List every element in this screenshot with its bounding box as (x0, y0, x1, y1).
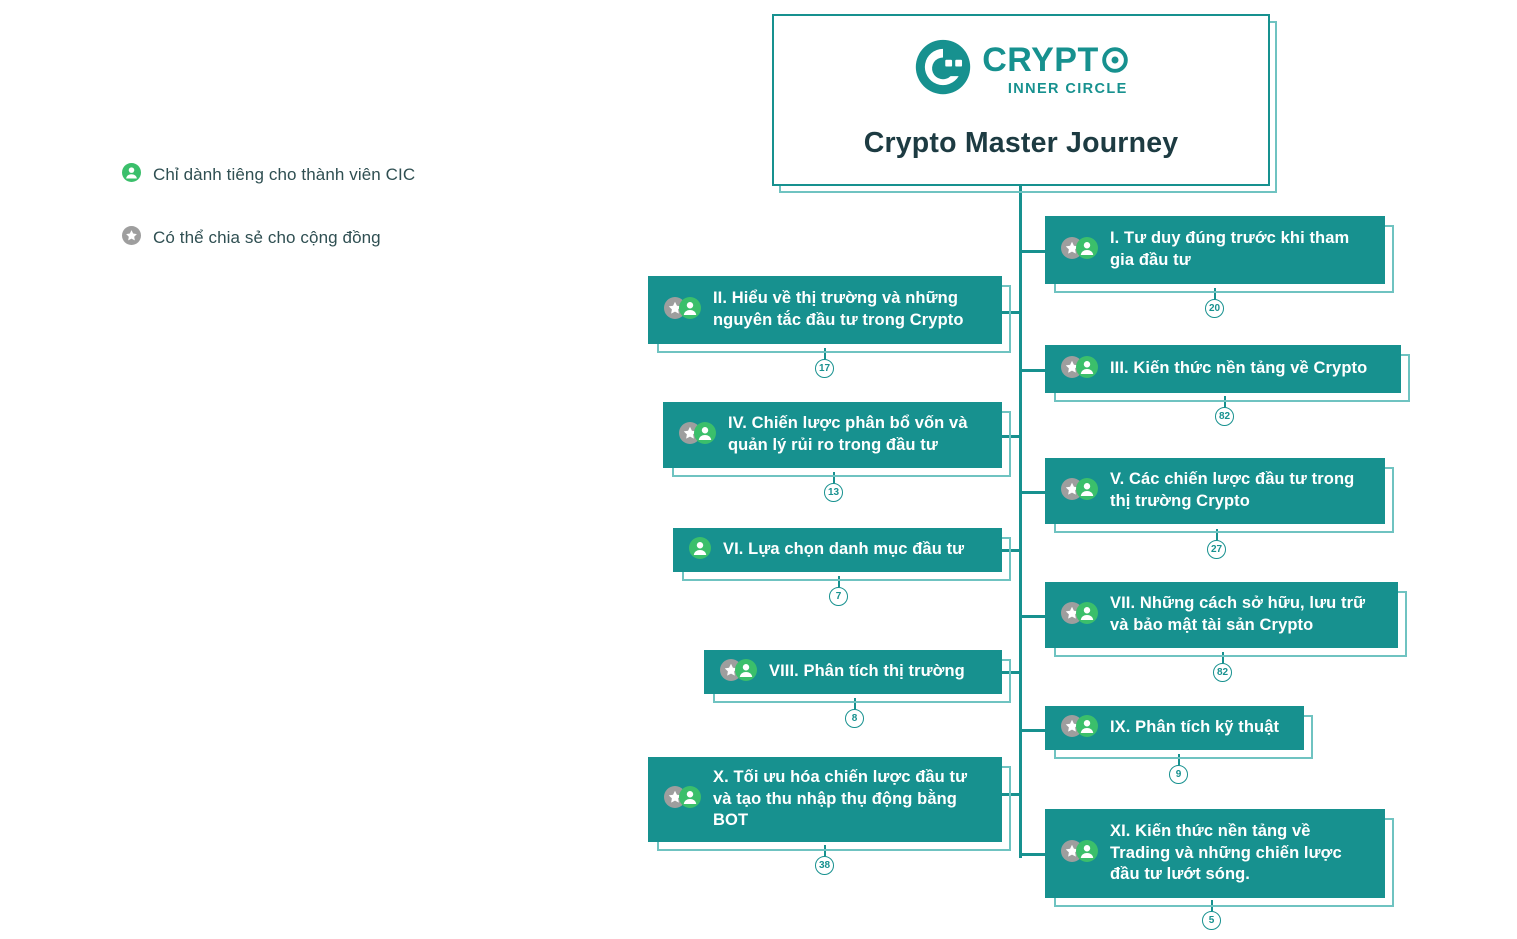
module-label: X. Tối ưu hóa chiến lược đầu tư và tạo t… (713, 767, 988, 832)
module-count-5: 27 (1207, 529, 1226, 559)
module-label: VII. Những cách sở hữu, lưu trữ và bảo m… (1110, 593, 1384, 637)
person-icon (1076, 840, 1098, 867)
count-badge: 20 (1205, 299, 1224, 318)
legend: Chỉ dành tiêng cho thành viên CIC Có thể… (122, 160, 415, 286)
module-label: III. Kiến thức nền tảng về Crypto (1110, 358, 1367, 380)
count-badge: 82 (1215, 407, 1234, 426)
module-icons (664, 297, 701, 324)
module-icons (689, 537, 711, 564)
module-label: VI. Lựa chọn danh mục đầu tư (723, 539, 964, 561)
person-icon (694, 422, 716, 449)
module-icons (1061, 478, 1098, 505)
branch-line-7 (1019, 615, 1045, 618)
count-badge: 8 (845, 709, 864, 728)
page-title: Crypto Master Journey (774, 127, 1268, 160)
module-icons (1061, 840, 1098, 867)
module-card-11[interactable]: XI. Kiến thức nền tảng về Trading và nhữ… (1045, 809, 1385, 898)
count-badge: 27 (1207, 540, 1226, 559)
module-card-3[interactable]: III. Kiến thức nền tảng về Crypto (1045, 345, 1401, 393)
count-badge: 7 (829, 587, 848, 606)
branch-line-1 (1019, 250, 1045, 253)
module-card-2[interactable]: II. Hiểu về thị trường và những nguyên t… (648, 276, 1002, 344)
module-icons (1061, 356, 1098, 383)
module-card-6[interactable]: VI. Lựa chọn danh mục đầu tư (673, 528, 1002, 572)
module-icons (1061, 715, 1098, 742)
brand-wordmark: CRYPT INNER CIRCLE (982, 43, 1127, 97)
star-icon (122, 226, 141, 250)
module-card-8[interactable]: VIII. Phân tích thị trường (704, 650, 1002, 694)
brand-logo: CRYPT INNER CIRCLE (774, 38, 1268, 101)
person-icon (1076, 478, 1098, 505)
module-card-10[interactable]: X. Tối ưu hóa chiến lược đầu tư và tạo t… (648, 757, 1002, 842)
count-badge: 13 (824, 483, 843, 502)
crypto-logo-mark (914, 38, 972, 101)
legend-item-label: Có thể chia sẻ cho cộng đồng (153, 228, 381, 248)
module-card-4[interactable]: IV. Chiến lược phân bổ vốn và quản lý rủ… (663, 402, 1002, 468)
count-badge: 5 (1202, 911, 1221, 930)
module-label: IX. Phân tích kỹ thuật (1110, 717, 1279, 739)
person-icon (679, 786, 701, 813)
trunk-line (1019, 186, 1022, 858)
module-label: XI. Kiến thức nền tảng về Trading và nhữ… (1110, 821, 1371, 886)
module-card-9[interactable]: IX. Phân tích kỹ thuật (1045, 706, 1304, 750)
module-label: II. Hiểu về thị trường và những nguyên t… (713, 288, 988, 332)
module-icons (1061, 237, 1098, 264)
module-icons (679, 422, 716, 449)
diagram-canvas: Chỉ dành tiêng cho thành viên CIC Có thể… (0, 0, 1517, 939)
module-label: V. Các chiến lược đầu tư trong thị trườn… (1110, 469, 1371, 513)
module-card-1[interactable]: I. Tư duy đúng trước khi tham gia đầu tư (1045, 216, 1385, 284)
module-label: IV. Chiến lược phân bổ vốn và quản lý rủ… (728, 413, 988, 457)
module-label: I. Tư duy đúng trước khi tham gia đầu tư (1110, 228, 1371, 272)
legend-item-members: Chỉ dành tiêng cho thành viên CIC (122, 160, 415, 190)
header-card: CRYPT INNER CIRCLE Crypto Master Journey (772, 14, 1270, 186)
count-badge: 9 (1169, 765, 1188, 784)
module-label: VIII. Phân tích thị trường (769, 661, 965, 683)
branch-line-11 (1019, 853, 1045, 856)
branch-line-3 (1019, 369, 1045, 372)
count-badge: 38 (815, 856, 834, 875)
brand-name-text: CRYPT (982, 43, 1098, 77)
person-icon (679, 297, 701, 324)
count-badge: 82 (1213, 663, 1232, 682)
legend-item-public: Có thể chia sẻ cho cộng đồng (122, 223, 415, 253)
branch-line-5 (1019, 491, 1045, 494)
target-o-icon (1102, 47, 1128, 73)
legend-item-label: Chỉ dành tiêng cho thành viên CIC (153, 165, 415, 185)
person-icon (122, 163, 141, 187)
count-badge: 17 (815, 359, 834, 378)
module-card-7[interactable]: VII. Những cách sở hữu, lưu trữ và bảo m… (1045, 582, 1398, 648)
branch-line-9 (1019, 729, 1045, 732)
person-icon (1076, 602, 1098, 629)
module-icons (1061, 602, 1098, 629)
module-icons (720, 659, 757, 686)
person-icon (689, 537, 711, 564)
module-icons (664, 786, 701, 813)
brand-name: CRYPT (982, 43, 1127, 77)
brand-tagline: INNER CIRCLE (982, 82, 1127, 97)
person-icon (1076, 356, 1098, 383)
person-icon (735, 659, 757, 686)
person-icon (1076, 715, 1098, 742)
module-card-5[interactable]: V. Các chiến lược đầu tư trong thị trườn… (1045, 458, 1385, 524)
person-icon (1076, 237, 1098, 264)
